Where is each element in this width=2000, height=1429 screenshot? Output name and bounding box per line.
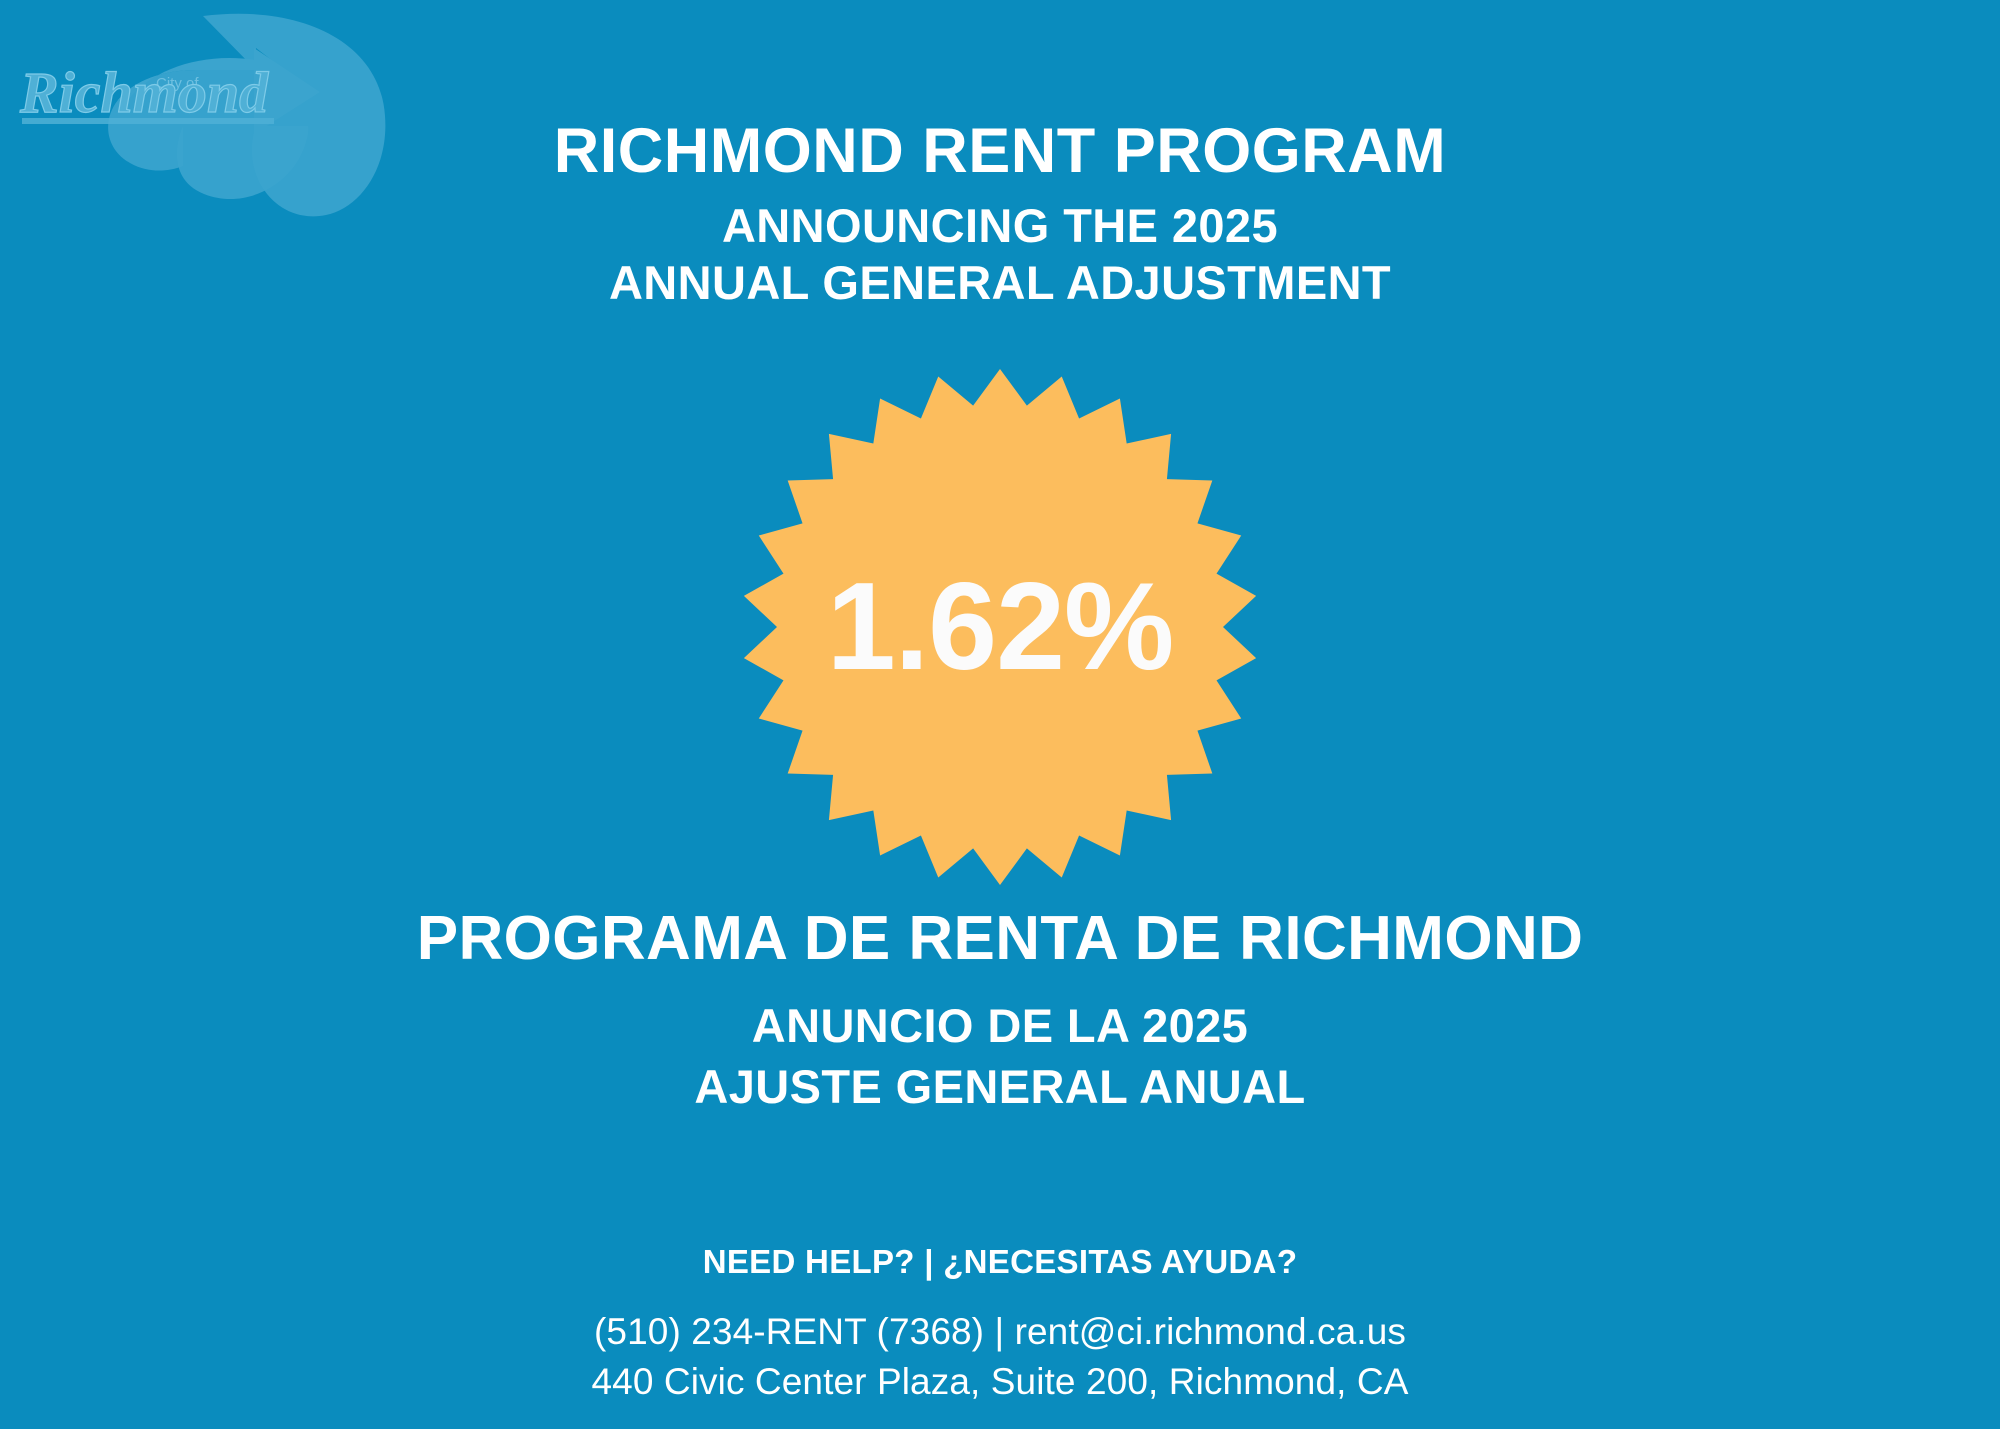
adjustment-percentage-value: 1.62% xyxy=(741,368,1259,886)
spanish-subtitle-line-2: AJUSTE GENERAL ANUAL xyxy=(0,1056,2000,1117)
need-help-heading: NEED HELP? | ¿NECESITAS AYUDA? xyxy=(0,1243,2000,1281)
contact-footer: NEED HELP? | ¿NECESITAS AYUDA? (510) 234… xyxy=(0,1243,2000,1406)
subtitle-line-1: ANNOUNCING THE 2025 xyxy=(0,197,2000,254)
logo-kicker-text: City of xyxy=(156,75,199,92)
subtitle-line-2: ANNUAL GENERAL ADJUSTMENT xyxy=(0,254,2000,311)
general-adjustment-badge: 1.62% xyxy=(741,368,1259,886)
spanish-page-title: PROGRAMA DE RENTA DE RICHMOND xyxy=(0,906,2000,973)
spanish-heading-block: PROGRAMA DE RENTA DE RICHMOND ANUNCIO DE… xyxy=(0,906,2000,1117)
spanish-subtitle-line-1: ANUNCIO DE LA 2025 xyxy=(0,995,2000,1056)
english-heading-block: RICHMOND RENT PROGRAM ANNOUNCING THE 202… xyxy=(0,118,2000,311)
rent-program-announcement-poster: City of Richmond RICHMOND RENT PROGRAM A… xyxy=(0,0,2000,1429)
contact-address: 440 Civic Center Plaza, Suite 200, Richm… xyxy=(0,1357,2000,1407)
contact-phone-email[interactable]: (510) 234-RENT (7368) | rent@ci.richmond… xyxy=(0,1307,2000,1357)
logo-wordmark-text: Richmond xyxy=(19,60,269,125)
page-title: RICHMOND RENT PROGRAM xyxy=(0,118,2000,185)
